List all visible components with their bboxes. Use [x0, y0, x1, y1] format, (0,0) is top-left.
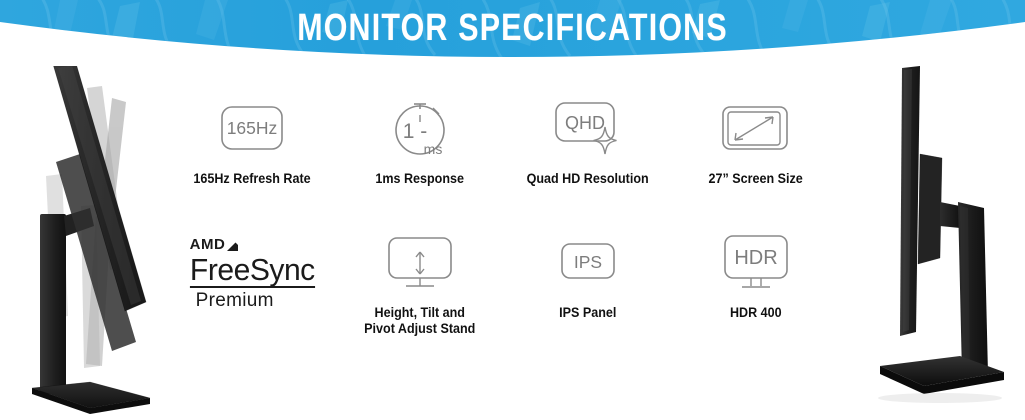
feature-grid: 165Hz 165Hz Refresh Rate 1 - ms	[168, 92, 840, 372]
stopwatch-icon-subtext: ms	[424, 141, 443, 157]
stopwatch-icon-text: 1 -	[403, 120, 428, 143]
feature-label-response-time: 1ms Response	[376, 171, 465, 187]
freesync-tier-text: Premium	[196, 291, 274, 310]
feature-resolution: QHD Quad HD Resolution	[504, 92, 672, 197]
ips-icon-text: IPS	[574, 252, 602, 272]
feature-response-time: 1 - ms 1ms Response	[336, 92, 504, 197]
screen-size-diagonal-icon	[672, 92, 840, 164]
qhd-badge-icon: QHD	[504, 92, 672, 164]
feature-row-1: 165Hz 165Hz Refresh Rate 1 - ms	[168, 92, 840, 197]
page-title: MONITOR SPECIFICATIONS	[103, 6, 923, 50]
feature-screen-size: 27” Screen Size	[672, 92, 840, 197]
monitor-side-view-tilt-range	[28, 66, 188, 416]
specifications-page: MONITOR SPECIFICATIONS	[0, 0, 1025, 420]
refresh-rate-badge-icon: 165Hz	[168, 92, 336, 164]
feature-hdr: HDR HDR 400	[672, 227, 840, 372]
feature-label-screen-size: 27” Screen Size	[709, 171, 803, 187]
feature-row-2: AMD FreeSync Premium	[168, 227, 840, 372]
feature-label-resolution: Quad HD Resolution	[527, 171, 649, 187]
height-adjust-monitor-icon	[336, 227, 504, 299]
amd-arrow-icon	[226, 239, 239, 252]
feature-label-panel-type: IPS Panel	[559, 305, 616, 321]
amd-brand-text: AMD	[190, 237, 226, 252]
hdr-monitor-icon: HDR	[672, 227, 840, 299]
feature-stand-adjust: Height, Tilt and Pivot Adjust Stand	[336, 227, 504, 372]
ips-badge-icon: IPS	[504, 227, 672, 299]
feature-label-hdr: HDR 400	[730, 305, 782, 321]
feature-refresh-rate: 165Hz 165Hz Refresh Rate	[168, 92, 336, 197]
feature-freesync: AMD FreeSync Premium	[168, 227, 336, 372]
feature-panel-type: IPS IPS Panel	[504, 227, 672, 372]
feature-label-stand-adjust: Height, Tilt and Pivot Adjust Stand	[364, 305, 475, 337]
hdr-icon-text: HDR	[734, 247, 777, 269]
monitor-side-view-profile	[852, 56, 1017, 418]
qhd-icon-text: QHD	[565, 113, 605, 133]
refresh-rate-icon-text: 165Hz	[227, 118, 278, 138]
amd-brand-row: AMD	[190, 237, 240, 252]
feature-label-refresh-rate: 165Hz Refresh Rate	[193, 171, 310, 187]
amd-freesync-premium-logo: AMD FreeSync Premium	[168, 227, 336, 319]
stopwatch-icon: 1 - ms	[336, 92, 504, 164]
freesync-product-text: FreeSync	[190, 254, 315, 288]
